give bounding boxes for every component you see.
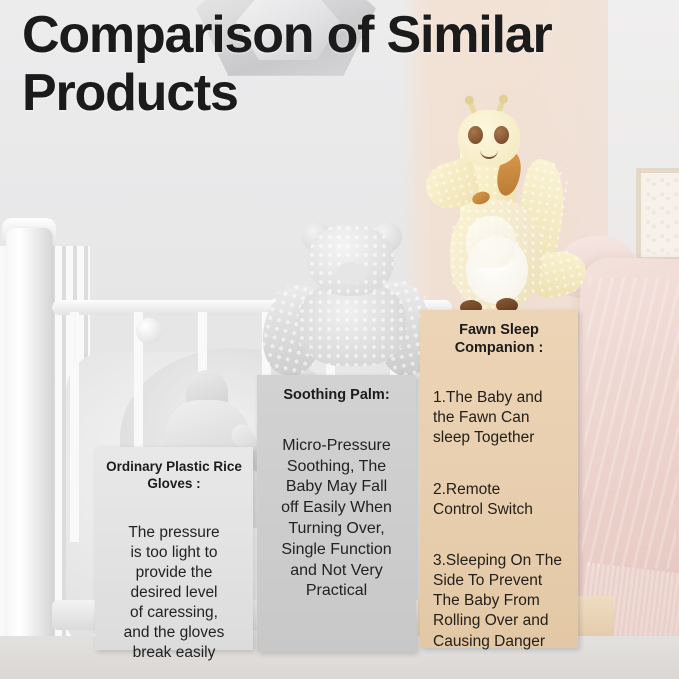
card-heading: Fawn Sleep Companion : xyxy=(429,322,569,358)
wall-picture-frame xyxy=(636,168,679,262)
comparison-card-fawn-sleep-companion: Fawn Sleep Companion : 1.The Baby and th… xyxy=(420,310,578,648)
card-feature-2: 2.Remote Control Switch xyxy=(429,480,569,520)
fawn-eye-right xyxy=(494,126,509,144)
fawn-bib xyxy=(466,216,516,268)
comparison-card-soothing-palm: Soothing Palm: Micro-Pressure Soothing, … xyxy=(257,375,416,652)
card-body: The pressure is too light to provide the… xyxy=(104,502,244,679)
card-heading: Soothing Palm: xyxy=(266,387,407,405)
comparison-card-ordinary-plastic-rice-gloves: Ordinary Plastic Rice Gloves : The press… xyxy=(95,447,253,650)
card-heading: Ordinary Plastic Rice Gloves : xyxy=(104,459,244,492)
bear-head xyxy=(308,224,394,296)
fawn-eye-left xyxy=(468,126,483,144)
fawn-plush-toy xyxy=(432,104,592,316)
card-body: Micro-Pressure Soothing, The Baby May Fa… xyxy=(266,415,407,623)
card-body: 1.The Baby and the Fawn Can sleep Togeth… xyxy=(429,368,569,679)
card-paragraph: Micro-Pressure Soothing, The Baby May Fa… xyxy=(266,436,407,602)
grey-bear-plush xyxy=(262,222,432,397)
card-feature-3: 3.Sleeping On The Side To Prevent The Ba… xyxy=(429,551,569,652)
page-title: Comparison of Similar Products xyxy=(22,6,662,122)
bear-snout xyxy=(336,262,368,284)
crib-post xyxy=(6,228,52,658)
card-feature-1: 1.The Baby and the Fawn Can sleep Togeth… xyxy=(429,388,569,448)
infographic-canvas: Comparison of Similar Products Ordinary … xyxy=(0,0,679,679)
card-paragraph: The pressure is too light to provide the… xyxy=(104,523,244,664)
